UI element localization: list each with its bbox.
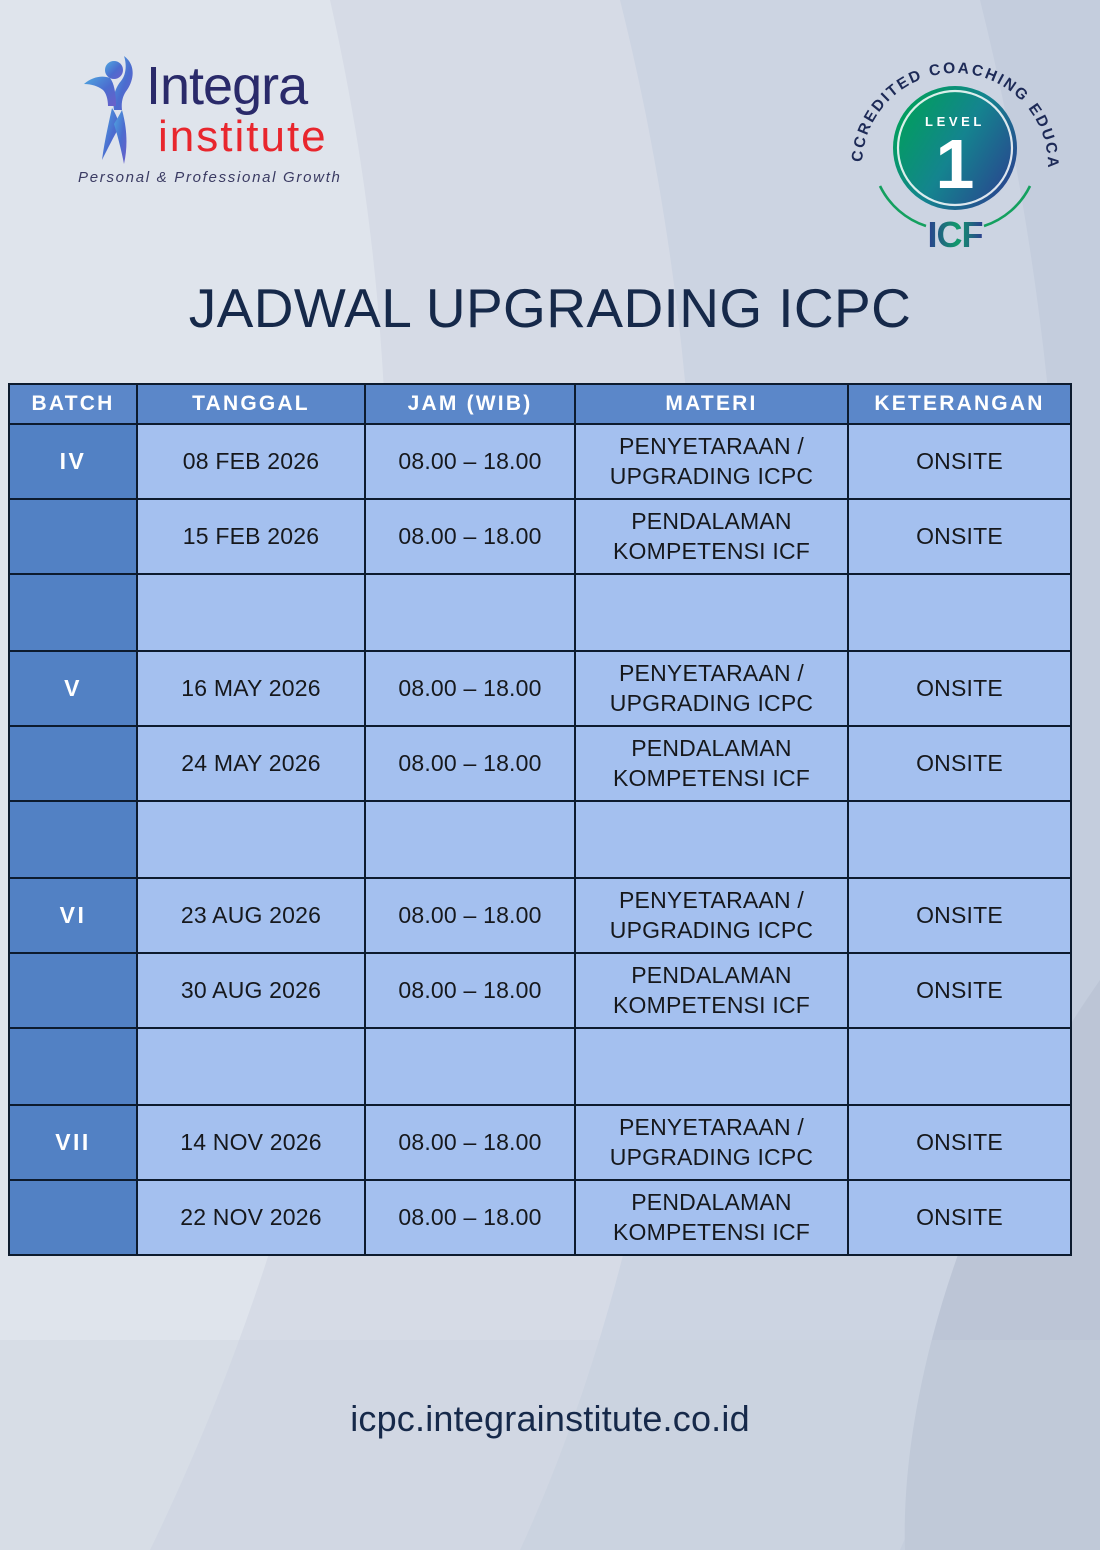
cell-keterangan: ONSITE — [848, 499, 1071, 574]
cell-tanggal: 30 AUG 2026 — [137, 953, 365, 1028]
cell-materi — [575, 801, 848, 878]
cell-materi-line-1: PENDALAMAN — [580, 961, 843, 991]
cell-keterangan: ONSITE — [848, 424, 1071, 499]
table-row: V16 MAY 202608.00 – 18.00PENYETARAAN /UP… — [9, 651, 1071, 726]
cell-jam: 08.00 – 18.00 — [365, 499, 575, 574]
cell-materi-line-2: KOMPETENSI ICF — [580, 991, 843, 1021]
cell-materi-line-1: PENYETARAAN / — [580, 1113, 843, 1143]
cell-tanggal — [137, 801, 365, 878]
cell-materi-line-2: UPGRADING ICPC — [580, 1143, 843, 1173]
poster-page: Integra institute Personal & Professiona… — [0, 0, 1100, 1550]
page-title: JADWAL UPGRADING ICPC — [0, 276, 1100, 340]
cell-keterangan: ONSITE — [848, 651, 1071, 726]
table-row: 24 MAY 202608.00 – 18.00PENDALAMANKOMPET… — [9, 726, 1071, 801]
cell-tanggal: 24 MAY 2026 — [137, 726, 365, 801]
cell-jam — [365, 801, 575, 878]
cell-batch — [9, 953, 137, 1028]
cell-batch — [9, 801, 137, 878]
cell-batch: IV — [9, 424, 137, 499]
column-header-materi: MATERI — [575, 384, 848, 424]
cell-materi: PENYETARAAN /UPGRADING ICPC — [575, 1105, 848, 1180]
cell-materi: PENYETARAAN /UPGRADING ICPC — [575, 651, 848, 726]
svg-text:institute: institute — [158, 112, 328, 161]
cell-materi-line-1: PENDALAMAN — [580, 507, 843, 537]
cell-keterangan — [848, 1028, 1071, 1105]
cell-tanggal — [137, 574, 365, 651]
svg-text:Integra: Integra — [146, 56, 309, 116]
cell-materi — [575, 574, 848, 651]
cell-batch — [9, 574, 137, 651]
cell-materi-line-1: PENDALAMAN — [580, 734, 843, 764]
column-header-jam: JAM (WIB) — [365, 384, 575, 424]
cell-materi: PENDALAMANKOMPETENSI ICF — [575, 726, 848, 801]
cell-jam: 08.00 – 18.00 — [365, 651, 575, 726]
cell-batch: VI — [9, 878, 137, 953]
column-header-keterangan: KETERANGAN — [848, 384, 1071, 424]
cell-tanggal: 08 FEB 2026 — [137, 424, 365, 499]
cell-materi: PENDALAMANKOMPETENSI ICF — [575, 499, 848, 574]
schedule-table-container: BATCH TANGGAL JAM (WIB) MATERI KETERANGA… — [8, 383, 1070, 1256]
table-row: 30 AUG 202608.00 – 18.00PENDALAMANKOMPET… — [9, 953, 1071, 1028]
website-url: icpc.integrainstitute.co.id — [0, 1398, 1100, 1440]
poster-header: Integra institute Personal & Professiona… — [0, 0, 1100, 260]
cell-jam: 08.00 – 18.00 — [365, 424, 575, 499]
cell-materi-line-2: UPGRADING ICPC — [580, 689, 843, 719]
cell-batch — [9, 1180, 137, 1255]
icf-accredited-coaching-education-level-1-badge: ICF-ACCREDITED COACHING EDUCATION LEVEL … — [840, 38, 1070, 268]
cell-batch — [9, 726, 137, 801]
cell-keterangan: ONSITE — [848, 878, 1071, 953]
cell-materi-line-1: PENDALAMAN — [580, 1188, 843, 1218]
cell-keterangan: ONSITE — [848, 1105, 1071, 1180]
cell-materi-line-2: UPGRADING ICPC — [580, 916, 843, 946]
table-row — [9, 1028, 1071, 1105]
svg-text:Personal & Professional Growth: Personal & Professional Growth — [78, 169, 342, 186]
table-row: 15 FEB 202608.00 – 18.00PENDALAMANKOMPET… — [9, 499, 1071, 574]
cell-jam: 08.00 – 18.00 — [365, 878, 575, 953]
table-row: VI23 AUG 202608.00 – 18.00PENYETARAAN /U… — [9, 878, 1071, 953]
cell-keterangan: ONSITE — [848, 726, 1071, 801]
cell-tanggal: 16 MAY 2026 — [137, 651, 365, 726]
cell-jam — [365, 1028, 575, 1105]
cell-batch — [9, 1028, 137, 1105]
cell-jam: 08.00 – 18.00 — [365, 726, 575, 801]
svg-text:1: 1 — [936, 125, 975, 203]
cell-keterangan — [848, 574, 1071, 651]
cell-materi: PENYETARAAN /UPGRADING ICPC — [575, 878, 848, 953]
cell-jam: 08.00 – 18.00 — [365, 953, 575, 1028]
svg-text:ICF: ICF — [928, 214, 983, 255]
schedule-table-body: IV08 FEB 202608.00 – 18.00PENYETARAAN /U… — [9, 424, 1071, 1255]
cell-batch: V — [9, 651, 137, 726]
table-row — [9, 801, 1071, 878]
cell-materi: PENYETARAAN /UPGRADING ICPC — [575, 424, 848, 499]
cell-materi-line-1: PENYETARAAN / — [580, 886, 843, 916]
cell-keterangan: ONSITE — [848, 1180, 1071, 1255]
cell-jam: 08.00 – 18.00 — [365, 1105, 575, 1180]
table-row: VII14 NOV 202608.00 – 18.00PENYETARAAN /… — [9, 1105, 1071, 1180]
cell-materi-line-2: UPGRADING ICPC — [580, 462, 843, 492]
column-header-tanggal: TANGGAL — [137, 384, 365, 424]
cell-materi: PENDALAMANKOMPETENSI ICF — [575, 953, 848, 1028]
table-row: IV08 FEB 202608.00 – 18.00PENYETARAAN /U… — [9, 424, 1071, 499]
cell-jam: 08.00 – 18.00 — [365, 1180, 575, 1255]
cell-materi-line-1: PENYETARAAN / — [580, 659, 843, 689]
cell-materi-line-2: KOMPETENSI ICF — [580, 764, 843, 794]
cell-batch: VII — [9, 1105, 137, 1180]
cell-keterangan: ONSITE — [848, 953, 1071, 1028]
cell-jam — [365, 574, 575, 651]
schedule-table: BATCH TANGGAL JAM (WIB) MATERI KETERANGA… — [8, 383, 1072, 1256]
table-row — [9, 574, 1071, 651]
cell-tanggal — [137, 1028, 365, 1105]
cell-materi-line-2: KOMPETENSI ICF — [580, 1218, 843, 1248]
cell-materi-line-1: PENYETARAAN / — [580, 432, 843, 462]
cell-batch — [9, 499, 137, 574]
integra-institute-logo: Integra institute Personal & Professiona… — [72, 48, 372, 198]
cell-tanggal: 14 NOV 2026 — [137, 1105, 365, 1180]
cell-tanggal: 22 NOV 2026 — [137, 1180, 365, 1255]
cell-materi-line-2: KOMPETENSI ICF — [580, 537, 843, 567]
cell-keterangan — [848, 801, 1071, 878]
cell-tanggal: 15 FEB 2026 — [137, 499, 365, 574]
cell-materi — [575, 1028, 848, 1105]
column-header-batch: BATCH — [9, 384, 137, 424]
table-row: 22 NOV 202608.00 – 18.00PENDALAMANKOMPET… — [9, 1180, 1071, 1255]
table-header-row: BATCH TANGGAL JAM (WIB) MATERI KETERANGA… — [9, 384, 1071, 424]
cell-tanggal: 23 AUG 2026 — [137, 878, 365, 953]
cell-materi: PENDALAMANKOMPETENSI ICF — [575, 1180, 848, 1255]
